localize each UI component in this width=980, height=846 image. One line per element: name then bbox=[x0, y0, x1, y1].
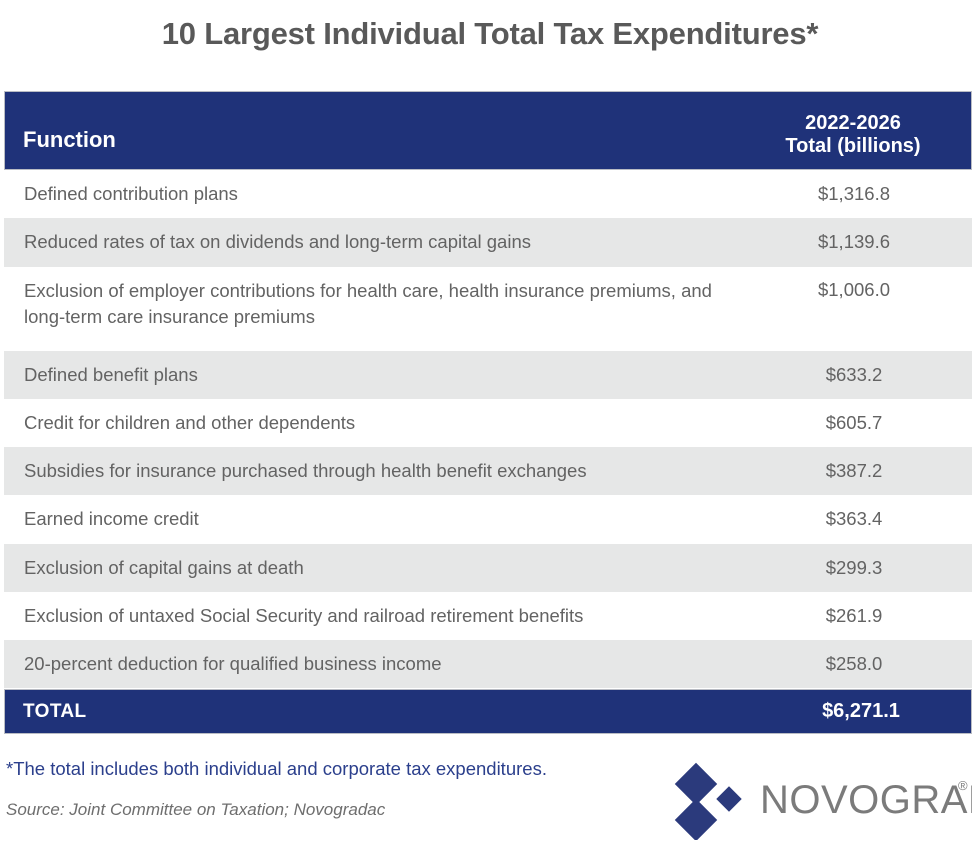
row-total-value: $258.0 bbox=[736, 642, 972, 686]
registered-trademark-icon: ® bbox=[958, 778, 968, 793]
row-function-label: Exclusion of untaxed Social Security and… bbox=[4, 592, 736, 640]
row-function-label: Defined benefit plans bbox=[4, 351, 736, 399]
total-label: TOTAL bbox=[5, 701, 751, 723]
row-function-label: Subsidies for insurance purchased throug… bbox=[4, 447, 736, 495]
source-text: Source: Joint Committee on Taxation; Nov… bbox=[6, 800, 385, 820]
footnote-text: *The total includes both individual and … bbox=[6, 758, 547, 780]
column-header-function: Function bbox=[5, 127, 735, 169]
row-function-label: Reduced rates of tax on dividends and lo… bbox=[4, 218, 736, 266]
row-total-value: $299.3 bbox=[736, 546, 972, 590]
row-function-label: Earned income credit bbox=[4, 495, 736, 543]
table-row: Earned income credit $363.4 bbox=[4, 495, 972, 543]
table-row: 20-percent deduction for qualified busin… bbox=[4, 640, 972, 688]
row-function-label: Exclusion of employer contributions for … bbox=[4, 267, 736, 342]
table-header-row: Function 2022-2026 Total (billions) bbox=[4, 91, 972, 170]
diamonds-icon bbox=[675, 763, 742, 840]
row-total-value: $363.4 bbox=[736, 497, 972, 541]
column-header-total-units: Total (billions) bbox=[743, 135, 963, 157]
table-row: Subsidies for insurance purchased throug… bbox=[4, 447, 972, 495]
total-value: $6,271.1 bbox=[751, 700, 971, 723]
column-header-total: 2022-2026 Total (billions) bbox=[735, 112, 971, 169]
row-total-value: $633.2 bbox=[736, 353, 972, 397]
column-header-total-years: 2022-2026 bbox=[743, 112, 963, 134]
row-function-label: 20-percent deduction for qualified busin… bbox=[4, 640, 736, 688]
novogradac-logo: NOVOGRADAC ® bbox=[672, 760, 972, 840]
page-title: 10 Largest Individual Total Tax Expendit… bbox=[0, 16, 980, 52]
table-row: Credit for children and other dependents… bbox=[4, 399, 972, 447]
row-total-value: $605.7 bbox=[736, 401, 972, 445]
tax-expenditures-table: Function 2022-2026 Total (billions) Defi… bbox=[4, 91, 972, 734]
table-total-row: TOTAL $6,271.1 bbox=[4, 689, 972, 734]
table-row: Exclusion of untaxed Social Security and… bbox=[4, 592, 972, 640]
table-row: Defined benefit plans $633.2 bbox=[4, 351, 972, 399]
row-function-label: Defined contribution plans bbox=[4, 170, 736, 218]
table-row: Exclusion of capital gains at death $299… bbox=[4, 544, 972, 592]
table-row: Exclusion of employer contributions for … bbox=[4, 267, 972, 351]
row-total-value: $261.9 bbox=[736, 594, 972, 638]
row-total-value: $1,316.8 bbox=[736, 172, 972, 216]
row-function-label: Credit for children and other dependents bbox=[4, 399, 736, 447]
row-total-value: $387.2 bbox=[736, 449, 972, 493]
table-row: Reduced rates of tax on dividends and lo… bbox=[4, 218, 972, 266]
row-function-label: Exclusion of capital gains at death bbox=[4, 544, 736, 592]
logo-wordmark: NOVOGRADAC bbox=[760, 778, 972, 822]
tax-expenditures-infographic: 10 Largest Individual Total Tax Expendit… bbox=[0, 0, 980, 846]
row-total-value: $1,006.0 bbox=[736, 267, 972, 312]
table-row: Defined contribution plans $1,316.8 bbox=[4, 170, 972, 218]
row-total-value: $1,139.6 bbox=[736, 220, 972, 264]
